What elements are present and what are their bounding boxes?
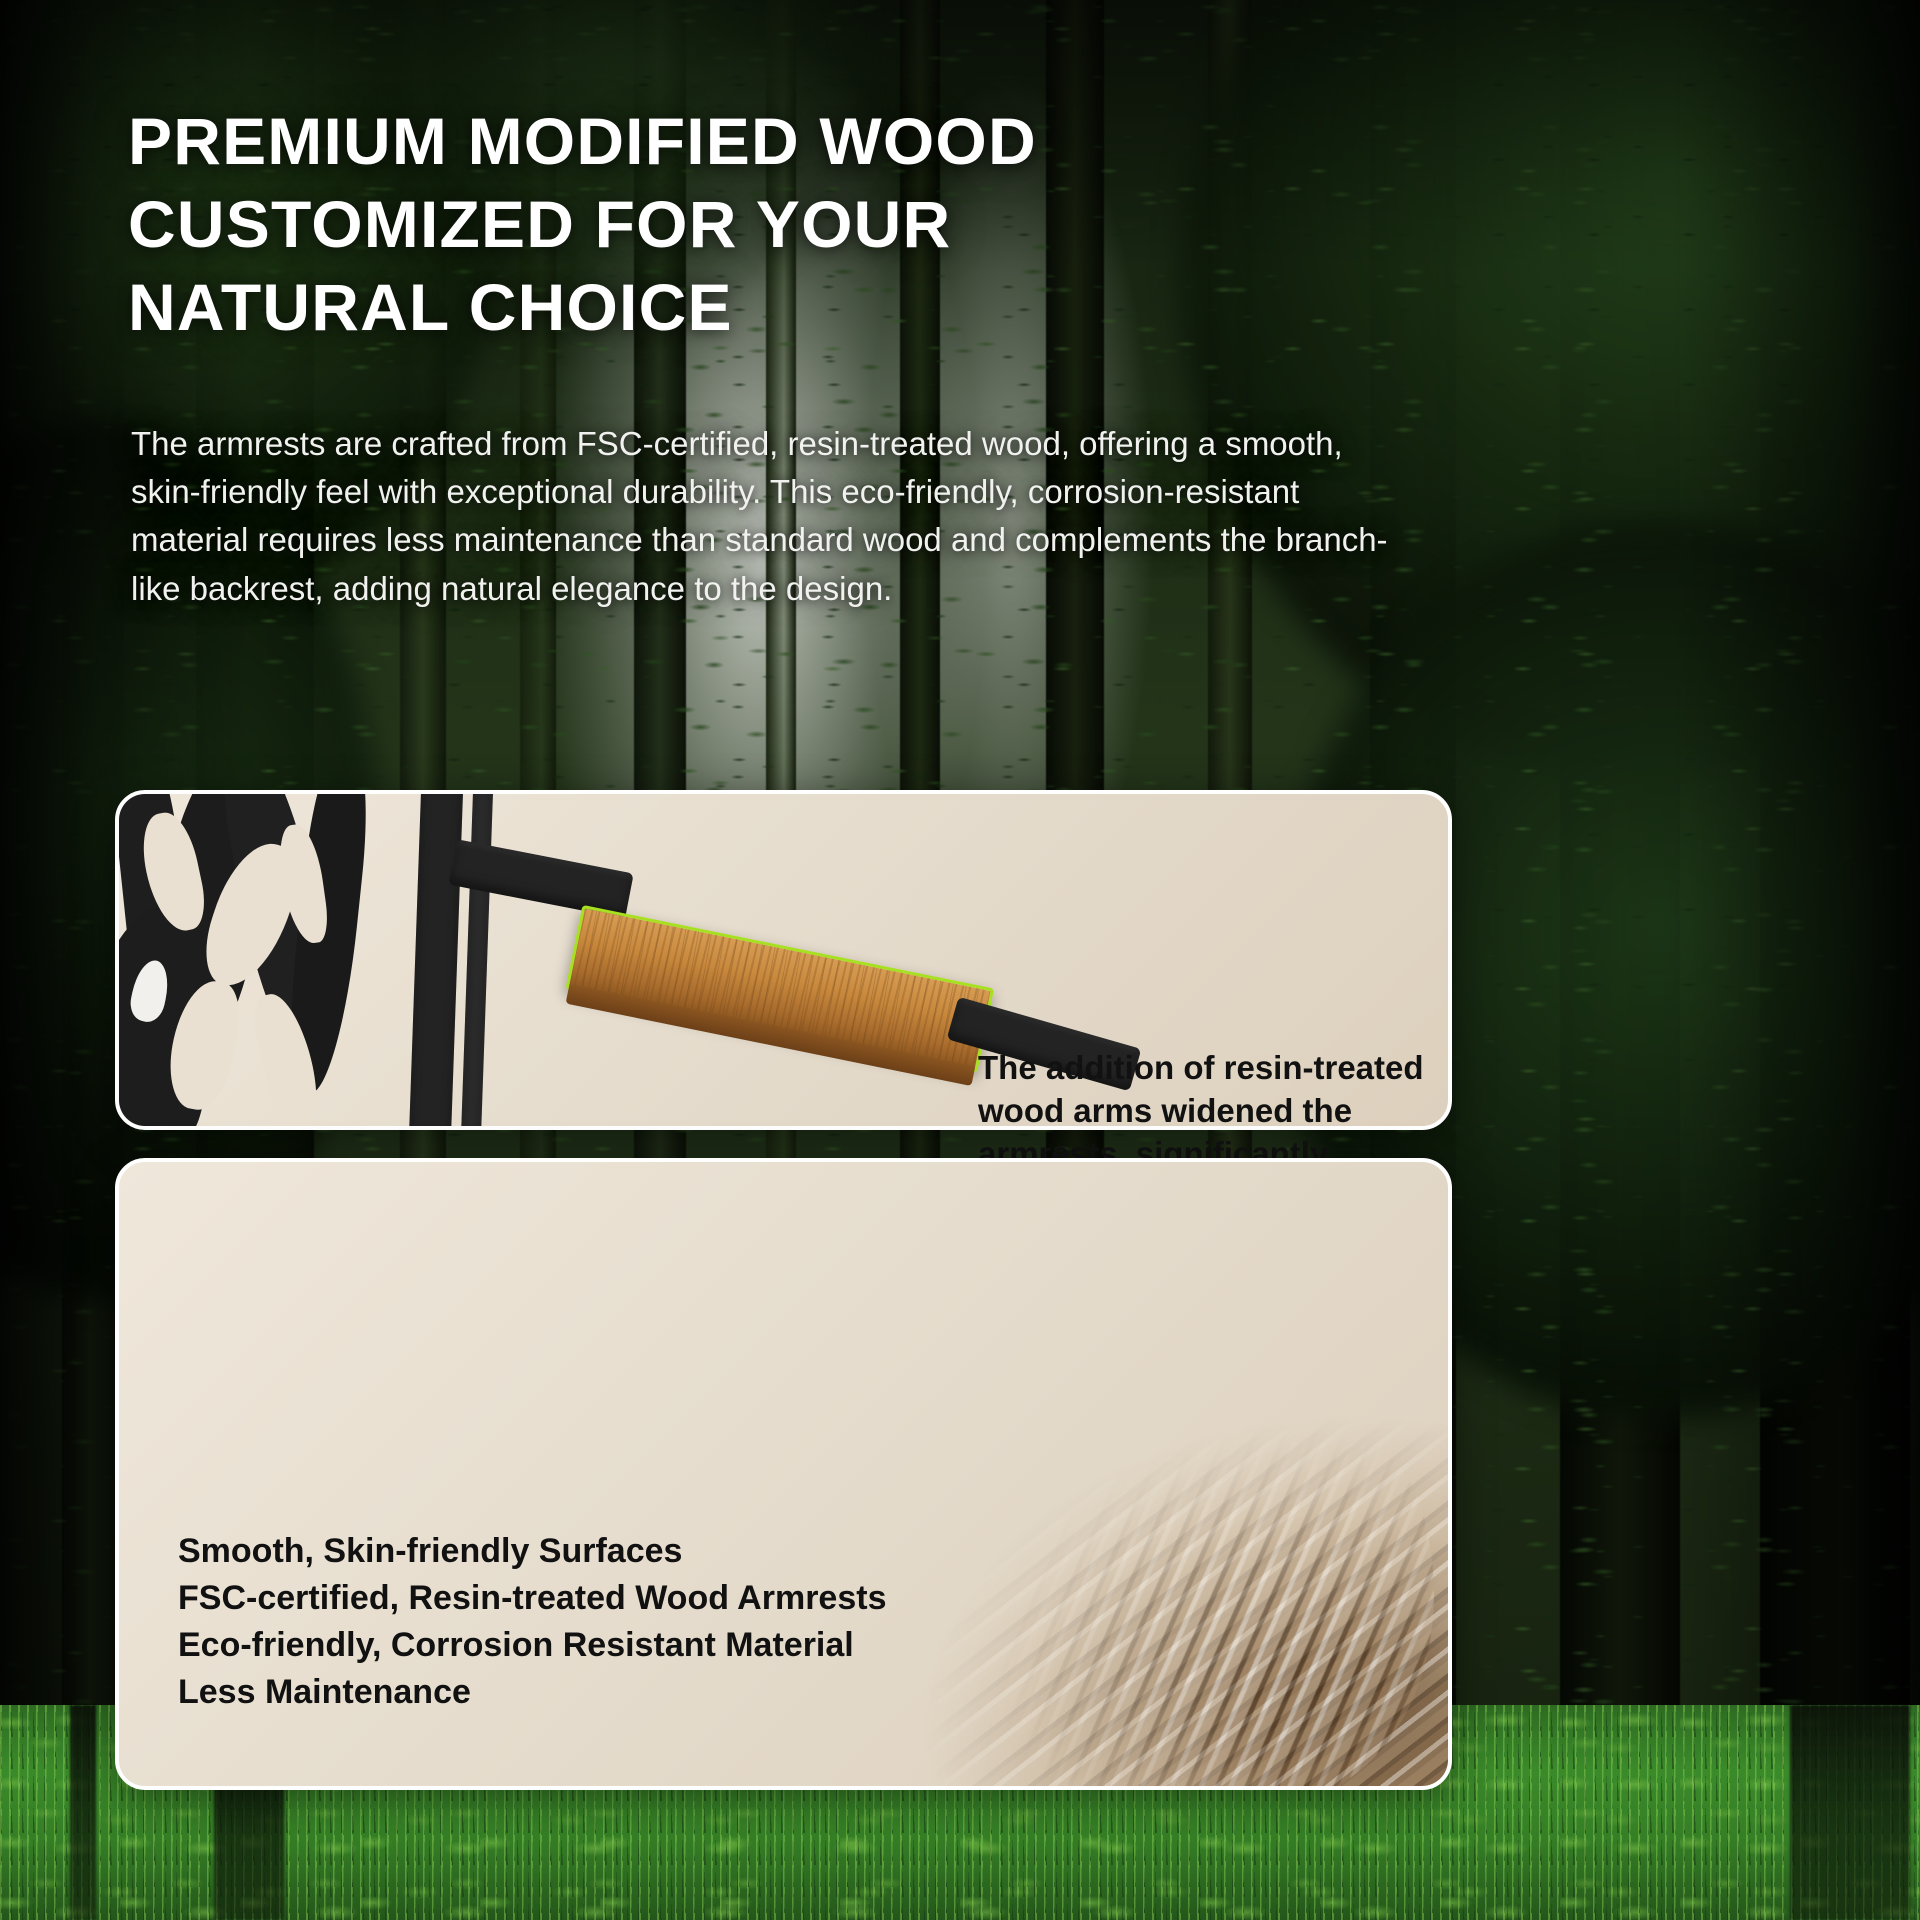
- infographic-page: PREMIUM MODIFIED WOOD CUSTOMIZED FOR YOU…: [0, 0, 1920, 1920]
- wood-armrest: [565, 905, 994, 1073]
- list-item: Less Maintenance: [178, 1669, 1078, 1716]
- intro-paragraph: The armrests are crafted from FSC-certif…: [131, 420, 1396, 613]
- headline-line-3: NATURAL CHOICE: [128, 266, 1428, 349]
- chair-post: [409, 790, 464, 1130]
- page-title: PREMIUM MODIFIED WOOD CUSTOMIZED FOR YOU…: [128, 100, 1428, 349]
- tree-trunk-base: [70, 1705, 96, 1920]
- list-item: Smooth, Skin-friendly Surfaces: [178, 1528, 1078, 1575]
- list-item: Eco-friendly, Corrosion Resistant Materi…: [178, 1622, 1078, 1669]
- headline-line-2: CUSTOMIZED FOR YOUR: [128, 183, 1428, 266]
- list-item: FSC-certified, Resin-treated Wood Armres…: [178, 1575, 1078, 1622]
- headline-line-1: PREMIUM MODIFIED WOOD: [128, 100, 1428, 183]
- feature-list: Smooth, Skin-friendly Surfaces FSC-certi…: [178, 1528, 1078, 1716]
- tree-trunk-base: [1790, 1705, 1910, 1920]
- branch-backrest: [115, 790, 411, 1130]
